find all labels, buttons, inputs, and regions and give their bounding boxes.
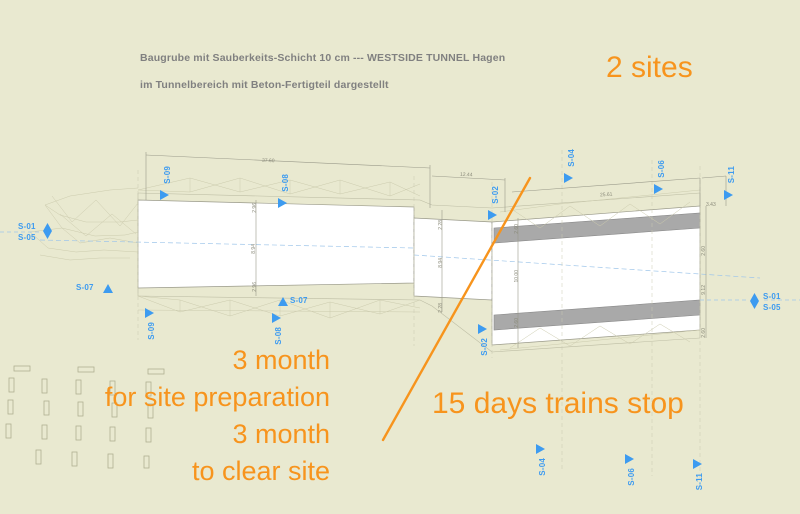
excavation-corridor-left [138,200,414,288]
triangle-right-icon [654,184,663,194]
dimension-label: 3.43 [706,202,716,208]
survey-marker-label-top: S-01 [18,222,36,231]
survey-marker-label: S-04 [538,458,547,476]
excavation-corridor-mid [414,218,492,300]
survey-marker-label: S-04 [567,149,576,167]
survey-marker-label: S-06 [657,160,666,178]
triangle-right-icon [693,459,702,469]
survey-marker-label-bottom: S-05 [18,233,36,242]
annotation-site-prep-line-1: 3 month [0,345,330,377]
survey-marker-label: S-11 [695,473,704,490]
survey-marker-label: S-08 [274,327,283,345]
annotation-site-prep-line-2: for site preparation [0,382,330,414]
survey-marker-label: S-07 [290,296,308,305]
triangle-right-icon [536,444,545,454]
dimension-label: 2.60 [701,246,707,256]
triangle-up-icon [278,297,288,306]
dimension-label: 2.96 [252,282,258,292]
dimension-label: 8.94 [438,258,444,268]
dimension-label: 2.96 [252,203,258,213]
triangle-right-icon [488,210,497,220]
survey-marker-label: S-08 [281,174,290,192]
dimension-label: 10.00 [514,270,520,283]
dimension-label: 8.94 [251,244,257,254]
dimension-label: 2.28 [438,303,444,313]
annotation-trains-stop: 15 days trains stop [432,386,684,421]
triangle-right-icon [564,173,573,183]
drawing-canvas: Baugrube mit Sauberkeits-Schicht 10 cm -… [0,0,800,514]
survey-marker-label-top: S-01 [763,292,781,301]
header-line-1: Baugrube mit Sauberkeits-Schicht 10 cm -… [140,52,505,64]
survey-marker-label: S-02 [491,186,500,204]
dimension-label: 2.28 [438,220,444,230]
triangle-right-icon [625,454,634,464]
dimension-label: 37.60 [262,158,275,164]
triangle-right-icon [160,190,169,200]
triangle-right-icon [478,324,487,334]
dimension-label: 2.60 [514,224,520,234]
survey-marker-label: S-11 [727,166,736,183]
annotation-site-prep-line-4: to clear site [0,456,330,488]
dimension-label: 12.44 [460,172,473,178]
dimension-label: 2.60 [701,328,707,338]
dimension-label: 25.61 [600,192,613,199]
annotation-site-prep-line-3: 3 month [0,419,330,451]
triangle-right-icon [145,308,154,318]
triangle-up-icon [103,284,113,293]
survey-marker-label-bottom: S-05 [763,303,781,312]
survey-marker-label: S-07 [76,283,94,292]
header-line-2: im Tunnelbereich mit Beton-Fertigteil da… [140,79,389,91]
triangle-right-icon [278,198,287,208]
triangle-right-icon [272,313,281,323]
dimension-label: 2.60 [514,318,520,328]
survey-marker-label: S-09 [163,166,172,184]
survey-mesh-above [138,178,420,196]
triangle-right-icon [724,190,733,200]
survey-marker-label: S-09 [147,322,156,340]
dimension-label: 9.12 [701,285,707,295]
survey-marker-label: S-06 [627,468,636,486]
survey-mesh-left [30,188,138,260]
annotation-2-sites: 2 sites [606,50,693,85]
survey-marker-label: S-02 [480,338,489,356]
